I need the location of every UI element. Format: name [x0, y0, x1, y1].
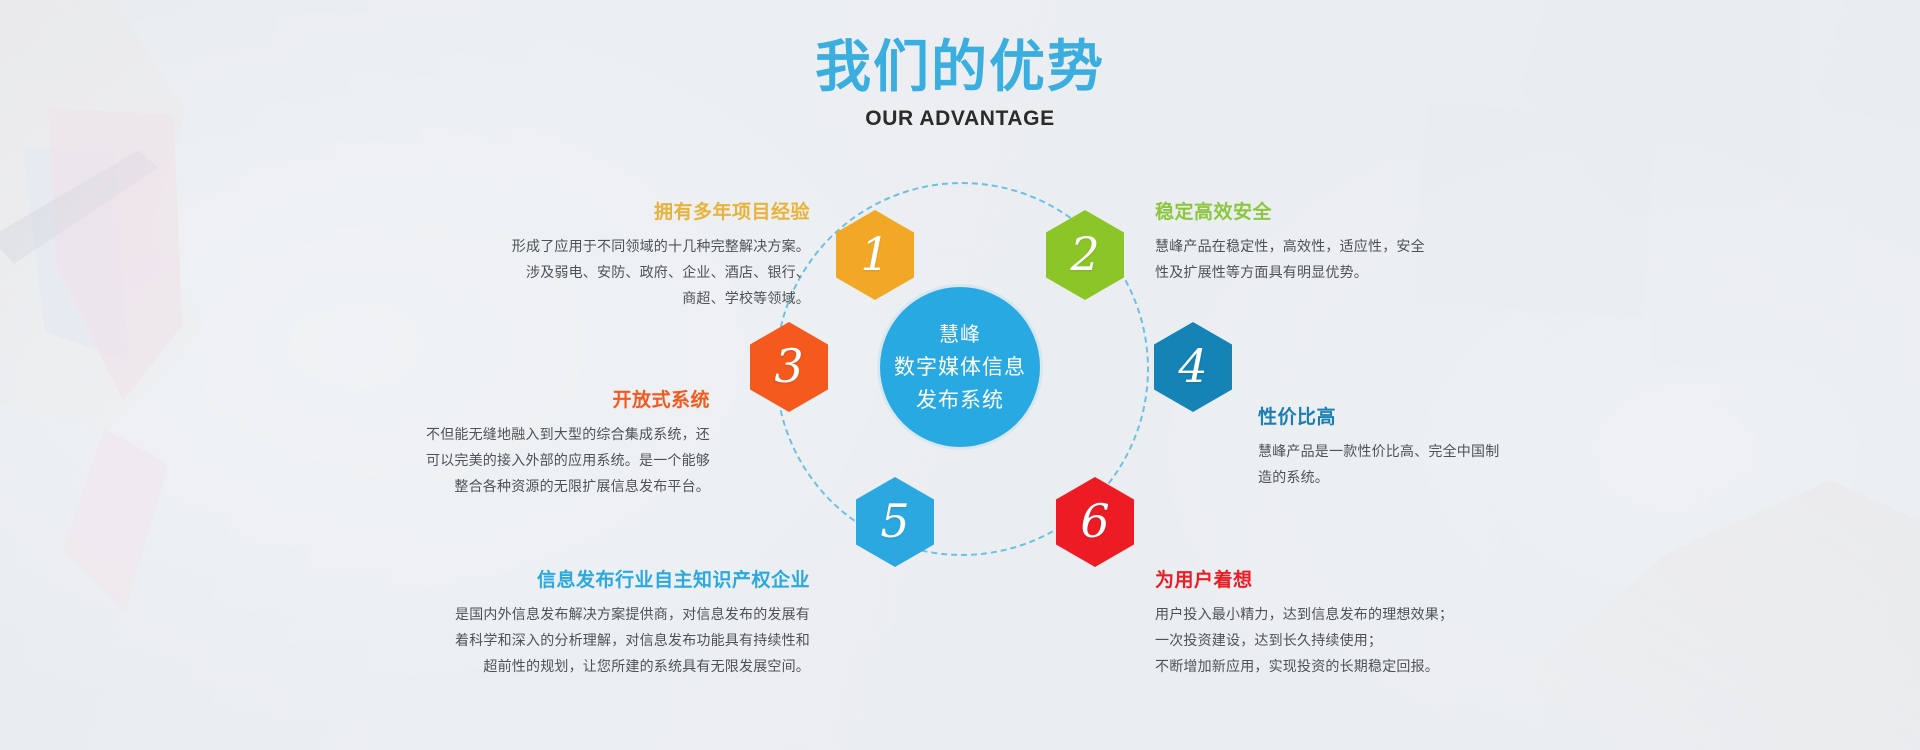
advantage-body-1: 形成了应用于不同领域的十几种完整解决方案。 涉及弱电、安防、政府、企业、酒店、银… [380, 234, 810, 312]
hexagon-number-3: 3 [774, 343, 803, 389]
advantage-heading-5: 信息发布行业自主知识产权企业 [300, 568, 810, 592]
advantage-body-6: 用户投入最小精力，达到信息发布的理想效果； 一次投资建设，达到长久持续使用； 不… [1155, 602, 1625, 680]
advantage-line: 整合各种资源的无限扩展信息发布平台。 [454, 479, 710, 495]
hexagon-number-5: 5 [880, 498, 909, 544]
advantage-line: 一次投资建设，达到长久持续使用； [1155, 633, 1382, 649]
advantage-heading-4: 性价比高 [1258, 405, 1678, 429]
center-line-3: 发布系统 [916, 384, 1004, 417]
advantage-line: 慧峰产品在稳定性，高效性，适应性，安全 [1155, 239, 1425, 255]
advantage-line: 慧峰产品是一款性价比高、完全中国制 [1258, 444, 1499, 460]
advantage-line: 不但能无缝地融入到大型的综合集成系统，还 [426, 427, 710, 443]
advantage-line: 超前性的规划，让您所建的系统具有无限发展空间。 [483, 659, 810, 675]
advantage-block-2: 稳定高效安全 慧峰产品在稳定性，高效性，适应性，安全 性及扩展性等方面具有明显优… [1155, 200, 1585, 286]
hexagon-number-1: 1 [860, 231, 889, 277]
advantage-line: 着科学和深入的分析理解，对信息发布功能具有持续性和 [455, 633, 810, 649]
advantage-body-3: 不但能无缝地融入到大型的综合集成系统，还 可以完美的接入外部的应用系统。是一个能… [290, 422, 710, 500]
advantage-diagram: 慧峰 数字媒体信息 发布系统 1 2 3 4 5 6 拥有多年项目经验 形成了应… [0, 0, 1920, 750]
advantage-line: 商超、学校等领域。 [682, 291, 810, 307]
center-line-1: 慧峰 [939, 318, 981, 351]
advantage-line: 涉及弱电、安防、政府、企业、酒店、银行、 [526, 265, 810, 281]
advantage-block-4: 性价比高 慧峰产品是一款性价比高、完全中国制 造的系统。 [1258, 405, 1678, 491]
advantage-line: 形成了应用于不同领域的十几种完整解决方案。 [512, 239, 810, 255]
advantage-block-3: 开放式系统 不但能无缝地融入到大型的综合集成系统，还 可以完美的接入外部的应用系… [290, 388, 710, 500]
advantage-body-2: 慧峰产品在稳定性，高效性，适应性，安全 性及扩展性等方面具有明显优势。 [1155, 234, 1585, 286]
advantage-heading-1: 拥有多年项目经验 [380, 200, 810, 224]
advantage-body-5: 是国内外信息发布解决方案提供商，对信息发布的发展有 着科学和深入的分析理解，对信… [300, 602, 810, 680]
advantage-infographic: 我们的优势 OUR ADVANTAGE 慧峰 数字媒体信息 发布系统 1 2 3… [0, 0, 1920, 750]
hexagon-badge-4[interactable]: 4 [1154, 322, 1232, 412]
advantage-heading-3: 开放式系统 [290, 388, 710, 412]
hexagon-number-6: 6 [1080, 498, 1109, 544]
advantage-block-1: 拥有多年项目经验 形成了应用于不同领域的十几种完整解决方案。 涉及弱电、安防、政… [380, 200, 810, 312]
advantage-heading-6: 为用户着想 [1155, 568, 1625, 592]
advantage-line: 不断增加新应用，实现投资的长期稳定回报。 [1155, 659, 1439, 675]
advantage-line: 性及扩展性等方面具有明显优势。 [1155, 265, 1368, 281]
advantage-heading-2: 稳定高效安全 [1155, 200, 1585, 224]
center-circle: 慧峰 数字媒体信息 发布系统 [880, 287, 1040, 447]
hexagon-number-2: 2 [1070, 231, 1099, 277]
advantage-line: 造的系统。 [1258, 470, 1329, 486]
advantage-line: 用户投入最小精力，达到信息发布的理想效果； [1155, 607, 1453, 623]
center-line-2: 数字媒体信息 [894, 351, 1026, 384]
advantage-body-4: 慧峰产品是一款性价比高、完全中国制 造的系统。 [1258, 439, 1678, 491]
hexagon-number-4: 4 [1178, 343, 1207, 389]
advantage-block-5: 信息发布行业自主知识产权企业 是国内外信息发布解决方案提供商，对信息发布的发展有… [300, 568, 810, 680]
advantage-line: 可以完美的接入外部的应用系统。是一个能够 [426, 453, 710, 469]
advantage-block-6: 为用户着想 用户投入最小精力，达到信息发布的理想效果； 一次投资建设，达到长久持… [1155, 568, 1625, 680]
advantage-line: 是国内外信息发布解决方案提供商，对信息发布的发展有 [455, 607, 810, 623]
